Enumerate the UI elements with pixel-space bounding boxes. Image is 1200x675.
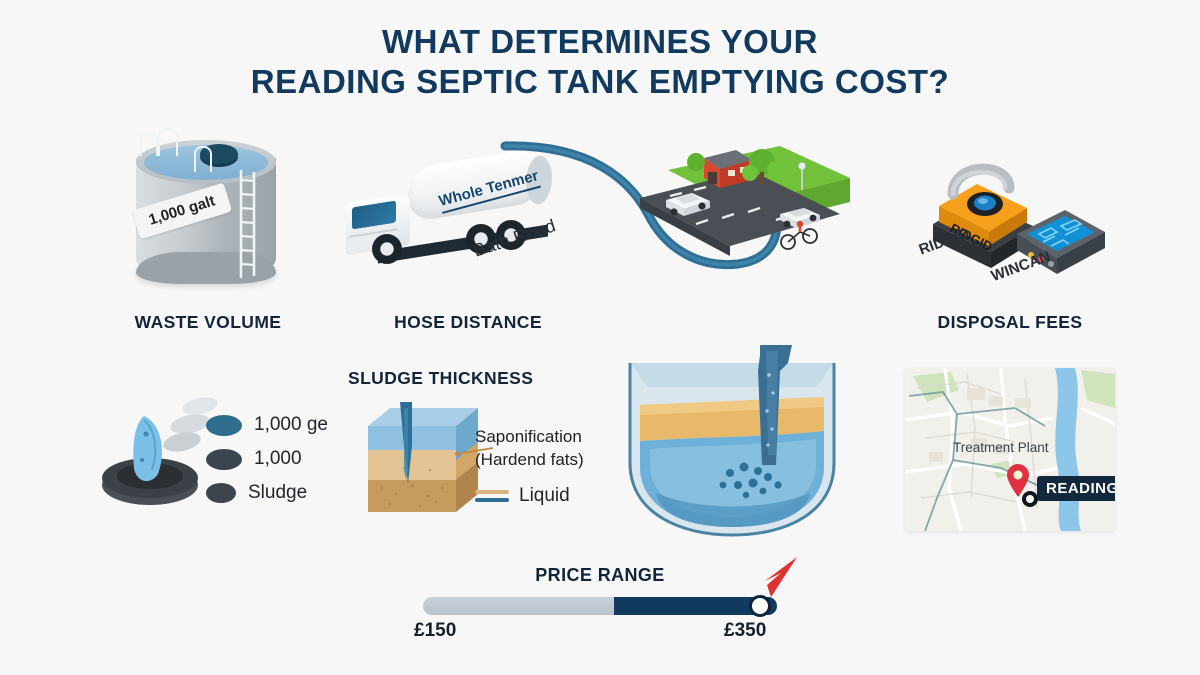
legend-liquid: Liquid — [475, 485, 584, 507]
caption-sludge-thickness: SLUDGE THICKNESS — [348, 368, 588, 389]
legend-item-0: 1,000 ge — [206, 414, 328, 436]
truck-wheel-front — [372, 234, 402, 264]
legend-label-1: 1,000 — [254, 448, 302, 470]
tank-ladder-icon — [238, 170, 258, 278]
slider-track-empty[interactable] — [423, 597, 614, 615]
page-title: WHAT DETERMINES YOUR READING SEPTIC TANK… — [0, 22, 1200, 102]
map-city-badge: READING — [1037, 476, 1115, 501]
caption-disposal-fees: DISPOSAL FEES — [898, 312, 1122, 333]
title-line-2: READING SEPTIC TANK EMPTYING COST? — [0, 62, 1200, 102]
map-place-label: Treatment Plant — [953, 440, 1049, 455]
legend-label-0: 1,000 ge — [254, 414, 328, 436]
tank-rail-3 — [194, 146, 212, 172]
caption-waste-volume: WASTE VOLUME — [103, 312, 313, 333]
slider-handle[interactable] — [749, 595, 771, 617]
tank-rail-2 — [158, 128, 178, 156]
annotation-leader-line — [455, 440, 495, 456]
legend-item-2: Sludge — [206, 482, 307, 504]
legend-liquid-label: Liquid — [519, 485, 570, 507]
tank-rail-1 — [140, 132, 158, 156]
infographic-canvas: WHAT DETERMINES YOUR READING SEPTIC TANK… — [0, 0, 1200, 675]
soil-cross-section-icon — [360, 400, 490, 530]
map-widget[interactable]: Treatment Plant READING — [905, 368, 1115, 531]
legend-liquid-swatch — [475, 490, 509, 502]
legend-swatch-2 — [206, 483, 236, 503]
legend-swatch-1 — [206, 449, 242, 470]
price-range-slider[interactable] — [423, 597, 777, 615]
street-scene-icon — [630, 128, 850, 288]
price-min-label: £150 — [414, 620, 456, 642]
sludge-thickness-legend: Saponification (Hardend fats) Liquid — [475, 425, 584, 507]
price-range-caption: PRICE RANGE — [0, 565, 1200, 586]
price-max-label: £350 — [724, 620, 766, 642]
title-line-1: WHAT DETERMINES YOUR — [0, 22, 1200, 62]
legend-label-2: Sludge — [248, 482, 307, 504]
tank-cross-section-icon — [610, 345, 860, 540]
water-tank-icon: 1,000 galt — [118, 120, 298, 295]
legend-item-1: 1,000 — [206, 448, 302, 470]
legend-swatch-0 — [206, 415, 242, 436]
